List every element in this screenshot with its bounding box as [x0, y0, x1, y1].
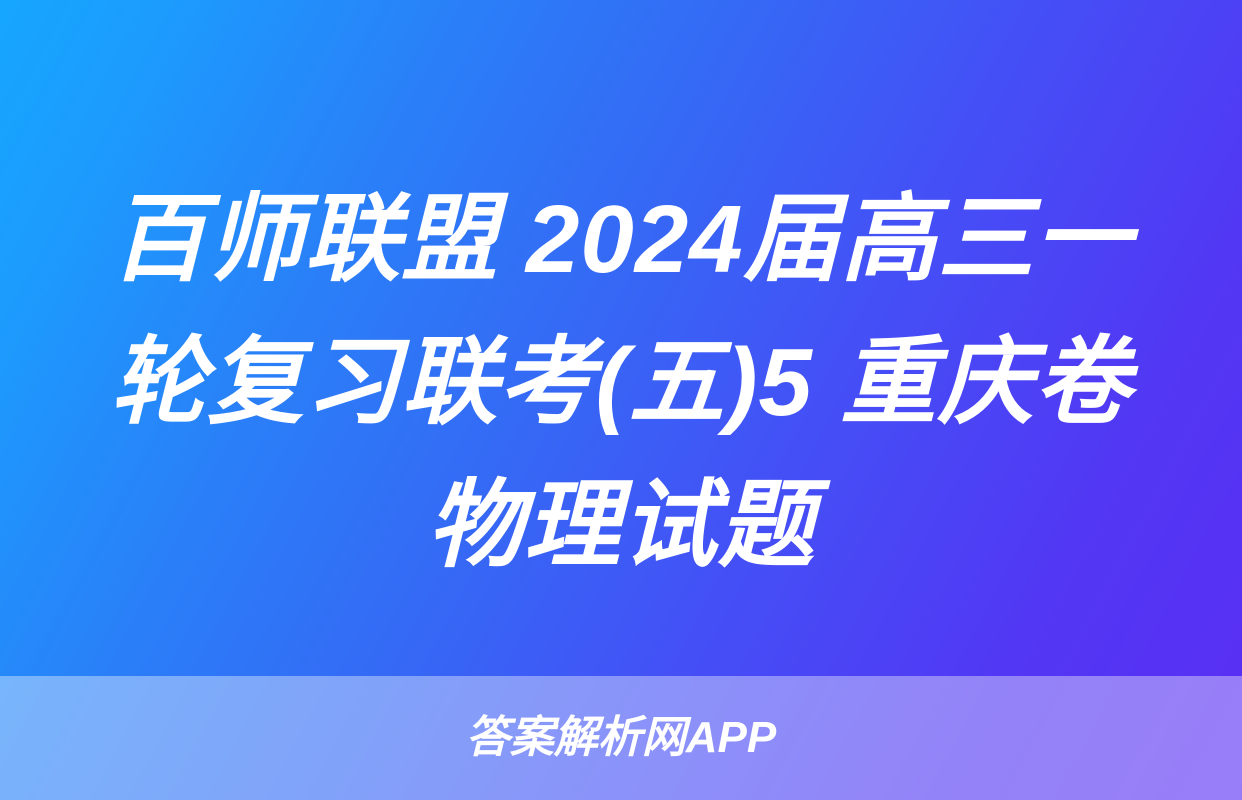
title-line-1: 百师联盟 2024届高三一: [46, 168, 1196, 311]
exam-cover-card: 百师联盟 2024届高三一 轮复习联考(五)5 重庆卷 物理试题 答案解析网AP…: [0, 0, 1242, 800]
watermark-text: 答案解析网APP: [466, 714, 776, 762]
title-line-3: 物理试题: [46, 454, 1196, 597]
page-title: 百师联盟 2024届高三一 轮复习联考(五)5 重庆卷 物理试题: [0, 168, 1242, 597]
title-line-2: 轮复习联考(五)5 重庆卷: [46, 311, 1196, 454]
watermark-band: 答案解析网APP: [0, 676, 1242, 800]
